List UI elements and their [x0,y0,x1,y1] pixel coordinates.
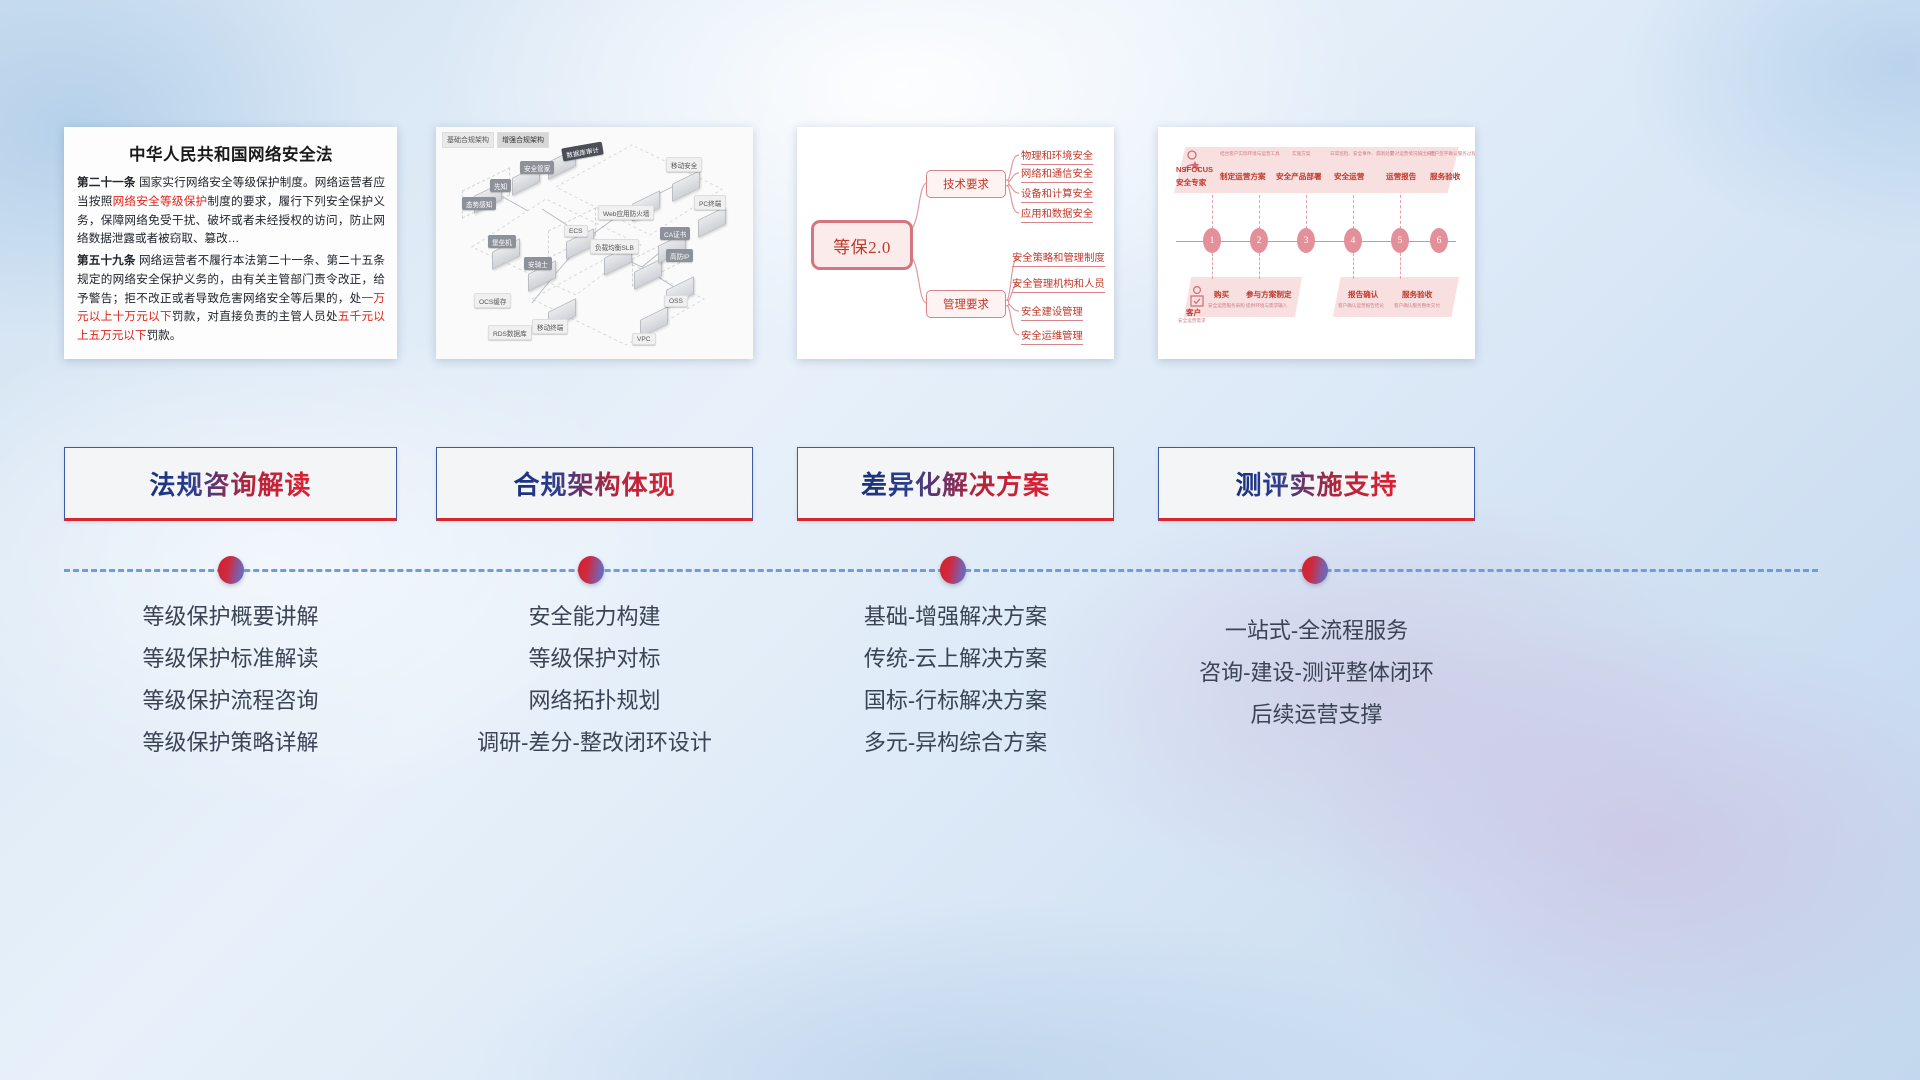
list-column-regulation: 等级保护概要讲解 等级保护标准解读 等级保护流程咨询 等级保护策略详解 [64,606,397,774]
nsfocus-node-6: 6 [1430,228,1448,253]
nsfocus-customer-sub: 安全运营需求 [1178,318,1206,324]
list-item: 网络拓扑规划 [436,690,753,712]
architecture-label-pc: PC终端 [694,195,726,210]
mindmap-branch-technical: 技术要求 [926,170,1006,198]
card-nsfocus: NSFOCUS 安全专家 结合客户实际环境与运营工具 实施方案 日常巡检、安全事… [1158,127,1475,359]
mindmap-leaf-policy: 安全策略和管理制度 [1012,249,1105,267]
nsfocus-step-sub-3: 日常巡检、安全事件、漏洞处置 [1330,151,1394,157]
law-article-21-highlight: 网络安全等级保护 [113,195,208,208]
architecture-label-vpc: VPC [632,333,656,345]
list-column-architecture: 安全能力构建 等级保护对标 网络拓扑规划 调研-差分-整改闭环设计 [436,606,753,774]
timeline-dot-1[interactable] [218,556,244,584]
nsfocus-step-3: 安全运营 [1334,171,1364,182]
list-item: 等级保护概要讲解 [64,606,397,628]
mindmap-branch-management: 管理要求 [926,290,1006,318]
law-article-59: 第五十九条 网络运营者不履行本法第二十一条、第二十五条规定的网络安全保护义务的，… [77,252,385,346]
list-item: 一站式-全流程服务 [1158,620,1475,642]
law-article-59-text-c: 罚款。 [147,329,182,342]
law-article-59-text-b: 罚款，对直接负责的主管人员处 [172,310,338,323]
mindmap-root: 等保2.0 [811,220,913,270]
architecture-label-anqishi: 安骑士 [524,257,552,270]
law-article-21-label: 第二十一条 [77,176,136,189]
card-row: 中华人民共和国网络安全法 第二十一条 国家实行网络安全等级保护制度。网络运营者应… [0,0,1920,380]
architecture-label-rds: RDS数据库 [488,325,532,340]
architecture-label-situation: 态势感知 [462,197,496,210]
nsfocus-connector [1212,195,1213,229]
architecture-label-ca: CA证书 [660,227,690,240]
mindmap-leaf-build: 安全建设管理 [1021,303,1083,321]
architecture-label-antiddos: 高防IP [666,249,693,262]
heading-row: 法规咨询解读 合规架构体现 差异化解决方案 测评实施支持 [0,447,1920,523]
list-column-solution: 基础-增强解决方案 传统-云上解决方案 国标-行标解决方案 多元-异构综合方案 [797,606,1114,774]
timeline-dot-2[interactable] [578,556,604,584]
nsfocus-bottom-sub-1: 安全运营服务采购 [1208,303,1245,309]
nsfocus-connector [1259,195,1260,229]
nsfocus-step-sub-2: 实施方案 [1292,151,1310,157]
timeline-dot-4[interactable] [1302,556,1328,584]
nsfocus-connector [1212,253,1213,279]
nsfocus-brand-sub: 安全专家 [1176,177,1206,188]
heading-label-architecture: 合规架构体现 [513,465,675,502]
nsfocus-connector [1353,253,1354,279]
nsfocus-bottom-item-3: 报告确认 [1348,289,1378,300]
nsfocus-bottom-item-2: 参与方案制定 [1246,289,1292,300]
nsfocus-step-sub-5: 客户签字确认服务过程与结果 [1430,151,1475,157]
list-item: 安全能力构建 [436,606,753,628]
law-article-59-label: 第五十九条 [77,254,136,267]
list-item: 基础-增强解决方案 [797,606,1114,628]
list-item: 国标-行标解决方案 [797,690,1114,712]
nsfocus-connector [1353,195,1354,229]
nsfocus-connector [1400,195,1401,229]
timeline-dot-3[interactable] [940,556,966,584]
nsfocus-brand: NSFOCUS [1176,165,1213,174]
nsfocus-step-1: 制定运营方案 [1220,171,1266,182]
architecture-label-ocs: OCS缓存 [474,293,511,308]
nsfocus-node-2: 2 [1250,228,1268,253]
architecture-diagram: 基础合规架构 增强合规架构 [436,127,753,359]
heading-label-regulation: 法规咨询解读 [149,465,311,502]
list-item: 等级保护对标 [436,648,753,670]
nsfocus-bottom-sub-4: 客户确认服务整体交付 [1394,303,1440,309]
customer-person-icon [1188,285,1206,309]
nsfocus-connector [1306,195,1307,229]
architecture-label-oss: OSS [664,295,688,307]
nsfocus-connector [1400,253,1401,279]
nsfocus-bottom-sub-3: 客户确认运营报告结论 [1338,303,1384,309]
nsfocus-step-4: 运营报告 [1386,171,1416,182]
heading-box-regulation[interactable]: 法规咨询解读 [64,447,397,521]
list-item: 咨询-建设-测评整体闭环 [1158,662,1475,684]
mindmap-leaf-application: 应用和数据安全 [1021,205,1093,223]
nsfocus-bottom-sub-2: 提供环境与需求输入 [1246,303,1287,309]
heading-label-assessment: 测评实施支持 [1235,465,1397,502]
heading-box-assessment[interactable]: 测评实施支持 [1158,447,1475,521]
law-title: 中华人民共和国网络安全法 [77,141,385,165]
architecture-label-bastion: 堡垒机 [488,235,516,248]
nsfocus-bottom-item-4: 服务验收 [1402,289,1432,300]
list-row: 等级保护概要讲解 等级保护标准解读 等级保护流程咨询 等级保护策略详解 安全能力… [0,606,1920,806]
nsfocus-connector [1259,253,1260,279]
nsfocus-node-3: 3 [1297,228,1315,253]
card-law: 中华人民共和国网络安全法 第二十一条 国家实行网络安全等级保护制度。网络运营者应… [64,127,397,359]
nsfocus-bottom-item-1: 购买 [1214,289,1229,300]
architecture-label-mobile: 移动终端 [532,319,568,334]
list-item: 等级保护标准解读 [64,648,397,670]
architecture-label-security-butler: 安全管家 [520,161,554,174]
nsfocus-node-4: 4 [1344,228,1362,253]
mindmap: 等保2.0 技术要求 管理要求 物理和环境安全 网络和通信安全 设备和计算安全 … [797,127,1114,359]
heading-label-solution: 差异化解决方案 [861,465,1050,502]
heading-box-solution[interactable]: 差异化解决方案 [797,447,1114,521]
mindmap-leaf-physical: 物理和环境安全 [1021,147,1093,165]
architecture-label-waf: Web应用防火墙 [598,205,654,220]
law-body: 中华人民共和国网络安全法 第二十一条 国家实行网络安全等级保护制度。网络运营者应… [64,127,397,359]
mindmap-leaf-operation: 安全运维管理 [1021,327,1083,345]
nsfocus-customer-label: 客户 [1186,307,1201,318]
card-mindmap: 等保2.0 技术要求 管理要求 物理和环境安全 网络和通信安全 设备和计算安全 … [797,127,1114,359]
nsfocus-timeline: NSFOCUS 安全专家 结合客户实际环境与运营工具 实施方案 日常巡检、安全事… [1158,127,1475,359]
list-item: 等级保护流程咨询 [64,690,397,712]
mindmap-leaf-org: 安全管理机构和人员 [1012,275,1105,293]
mindmap-leaf-network: 网络和通信安全 [1021,165,1093,183]
list-item: 后续运营支撑 [1158,704,1475,726]
mindmap-leaf-device: 设备和计算安全 [1021,185,1093,203]
nsfocus-step-sub-1: 结合客户实际环境与运营工具 [1220,151,1280,157]
list-item: 传统-云上解决方案 [797,648,1114,670]
list-item: 多元-异构综合方案 [797,732,1114,754]
nsfocus-node-1: 1 [1203,228,1221,253]
architecture-label-ecs: ECS [564,225,588,237]
card-architecture: 基础合规架构 增强合规架构 [436,127,753,359]
nsfocus-step-5: 服务验收 [1430,171,1460,182]
architecture-label-slb: 负载均衡SLB [590,239,639,254]
list-item: 等级保护策略详解 [64,732,397,754]
timeline [64,568,1818,572]
architecture-label-xianzhi: 先知 [490,179,511,192]
law-article-21: 第二十一条 国家实行网络安全等级保护制度。网络运营者应当按照网络安全等级保护制度… [77,174,385,249]
architecture-label-mobile-sec: 移动安全 [666,157,702,172]
nsfocus-node-5: 5 [1391,228,1409,253]
nsfocus-step-2: 安全产品部署 [1276,171,1322,182]
list-column-assessment: 一站式-全流程服务 咨询-建设-测评整体闭环 后续运营支撑 [1158,620,1475,746]
heading-box-architecture[interactable]: 合规架构体现 [436,447,753,521]
list-item: 调研-差分-整改闭环设计 [436,732,753,754]
